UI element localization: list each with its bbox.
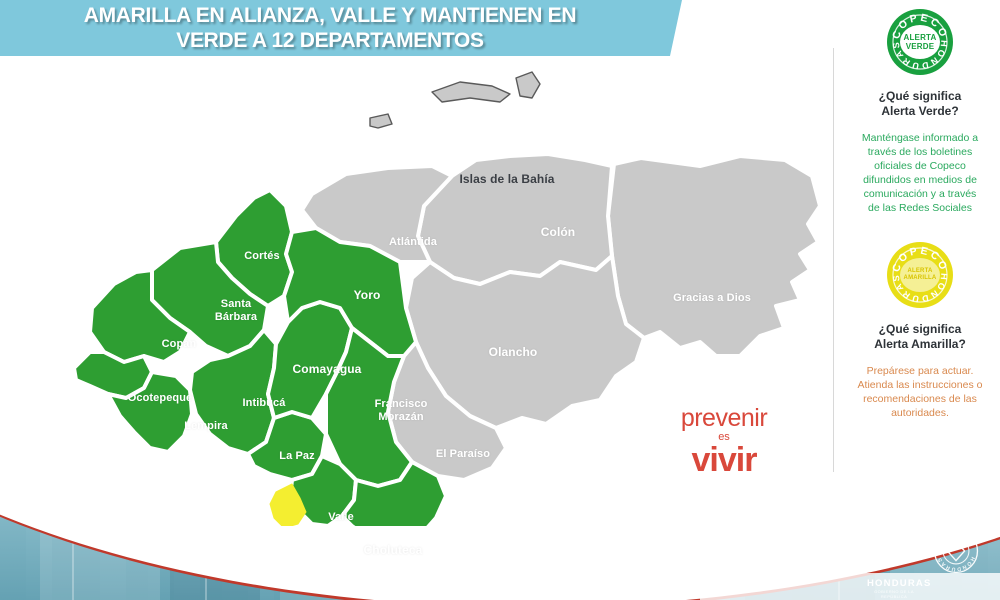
island-guanaja	[516, 72, 540, 98]
seal-center-line-1-yellow: ALERTA	[907, 268, 932, 275]
copeco-alerta-amarilla-seal: COPECO HONDURAS ALERTA AMARILLA	[886, 241, 954, 309]
copeco-alerta-verde-seal: COPECO HONDURAS ALERTA VERDE	[886, 8, 954, 76]
seal-center-green: ALERTA VERDE	[900, 25, 940, 59]
honduras-sublabel: GOBIERNO DE LA REPÚBLICA	[867, 589, 921, 599]
dept-gracias-a-dios	[608, 156, 820, 356]
alerta-amarilla-description: Prepárese para actuar. Atienda las instr…	[856, 364, 984, 420]
seal-center-line-2: VERDE	[906, 42, 935, 51]
alerta-amarilla-question-line-1: ¿Qué significa	[874, 322, 966, 337]
headline-banner	[0, 0, 682, 56]
slogan-line-3: vivir	[668, 444, 780, 476]
footer-logos: HONDURAS GOBIERNO DE LA REPÚBLICA COPECO…	[858, 528, 988, 594]
alerta-amarilla-question: ¿Qué significa Alerta Amarilla?	[874, 322, 966, 352]
alerta-verde-question: ¿Qué significa Alerta Verde?	[879, 89, 962, 119]
prevenir-es-vivir-logo: prevenir es vivir	[668, 406, 780, 476]
island-utila	[370, 114, 392, 128]
alerta-amarilla-question-line-2: Alerta Amarilla?	[874, 337, 966, 352]
honduras-government-emblem: HONDURAS GOBIERNO DE LA REPÚBLICA	[867, 528, 921, 599]
seal-center-yellow: ALERTA AMARILLA	[900, 258, 940, 292]
sidebar-divider	[833, 48, 834, 472]
copeco-footer-seal: COPECO HONDURAS	[933, 528, 979, 574]
infographic-canvas: Cortés Santa BárbaraSantaBárbara Copán O…	[0, 0, 1000, 600]
alerta-verde-question-line-1: ¿Qué significa	[879, 89, 962, 104]
slogan-line-1: prevenir	[668, 406, 780, 431]
svg-text:COPECO: COPECO	[935, 528, 978, 546]
seal-center-line-2-yellow: AMARILLA	[904, 275, 937, 282]
alert-legend-sidebar: COPECO HONDURAS ALERTA VERDE ¿Qué signif…	[846, 8, 994, 478]
seal-center-line-1: ALERTA	[903, 33, 936, 42]
alerta-verde-description: Manténgase informado a través de los bol…	[860, 131, 980, 215]
alerta-verde-question-line-2: Alerta Verde?	[879, 104, 962, 119]
honduras-label: HONDURAS	[867, 578, 921, 589]
island-roatan	[432, 82, 510, 102]
coat-of-arms-icon	[869, 528, 919, 572]
